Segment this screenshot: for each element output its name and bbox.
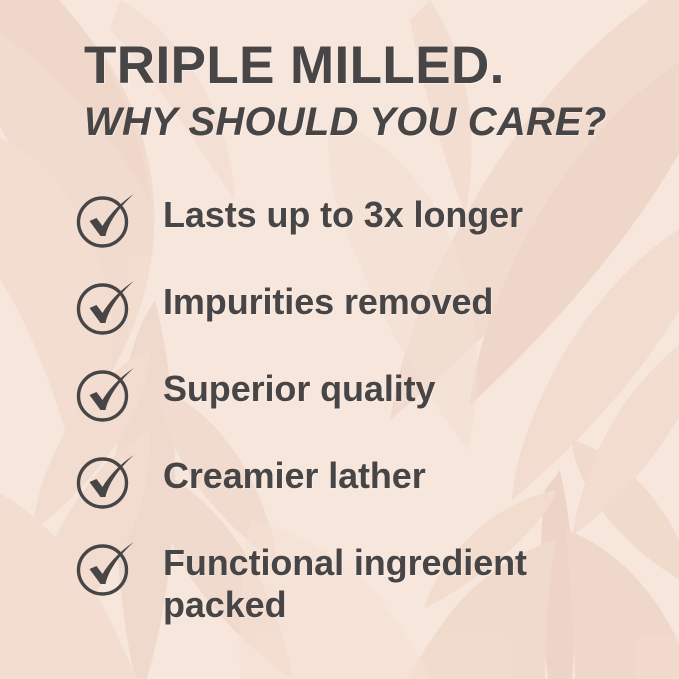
benefit-label: Impurities removed — [163, 277, 493, 323]
check-circle-icon — [76, 190, 136, 250]
page-subtitle: WHY SHOULD YOU CARE? — [84, 101, 644, 143]
list-item: Lasts up to 3x longer — [76, 190, 656, 252]
benefit-label: Creamier lather — [163, 451, 426, 497]
headline-block: TRIPLE MILLED. WHY SHOULD YOU CARE? — [84, 38, 644, 144]
list-item: Creamier lather — [76, 451, 656, 513]
list-item: Superior quality — [76, 364, 656, 426]
benefit-label: Lasts up to 3x longer — [163, 190, 523, 236]
list-item: Impurities removed — [76, 277, 656, 339]
poster-content: TRIPLE MILLED. WHY SHOULD YOU CARE? Last… — [0, 0, 679, 679]
benefit-label: Superior quality — [163, 364, 435, 410]
benefits-list: Lasts up to 3x longer Impurities removed — [76, 190, 656, 626]
list-item: Functional ingredient packed — [76, 538, 656, 626]
poster-canvas: TRIPLE MILLED. WHY SHOULD YOU CARE? Last… — [0, 0, 679, 679]
check-circle-icon — [76, 364, 136, 424]
check-circle-icon — [76, 277, 136, 337]
page-title: TRIPLE MILLED. — [84, 38, 644, 93]
benefit-label: Functional ingredient packed — [163, 538, 593, 626]
check-circle-icon — [76, 451, 136, 511]
check-circle-icon — [76, 538, 136, 598]
